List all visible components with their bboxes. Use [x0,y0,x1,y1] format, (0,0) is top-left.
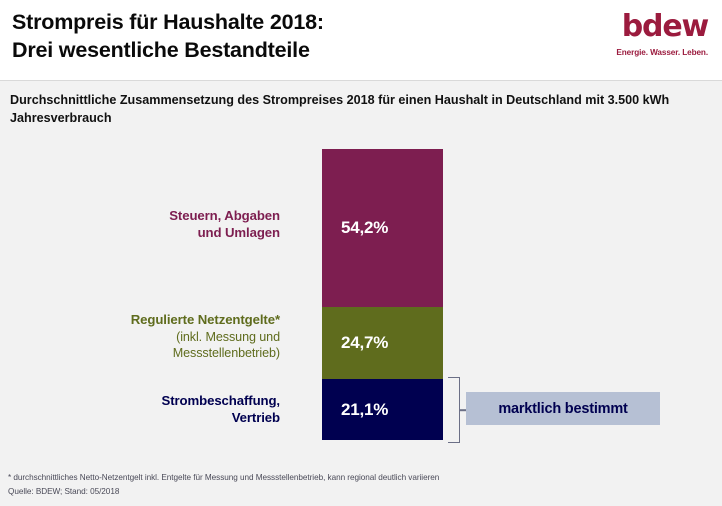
category-label-grid-fees-line3: Messstellenbetrieb) [131,345,280,361]
bar-value-taxes: 54,2% [341,218,388,238]
category-label-supply: Strombeschaffung, Vertrieb [162,393,280,427]
page-header: Strompreis für Haushalte 2018: Drei wese… [0,0,722,80]
stacked-bar: 54,2% 24,7% 21,1% [322,149,443,440]
page-title-line2: Drei wesentliche Bestandteile [12,36,602,64]
bar-segment-taxes: 54,2% [322,149,443,307]
bracket-connector [448,377,460,443]
footnote-methodology: * durchschnittliches Netto-Netzentgelt i… [8,471,708,484]
bar-segment-grid-fees: 24,7% [322,307,443,379]
category-label-grid-fees-line2: (inkl. Messung und [131,329,280,345]
footnote-source: Quelle: BDEW; Stand: 05/2018 [8,485,708,498]
bdew-logo: bdew Energie. Wasser. Leben. [600,12,708,57]
category-label-supply-line1: Strombeschaffung, [162,393,280,410]
page-title-line1: Strompreis für Haushalte 2018: [12,10,324,34]
bar-segment-supply: 21,1% [322,379,443,440]
bdew-tagline: Energie. Wasser. Leben. [600,49,708,57]
chart-subtitle: Durchschnittliche Zusammensetzung des St… [10,92,700,128]
bar-value-supply: 21,1% [341,400,388,420]
category-label-supply-line2: Vertrieb [162,410,280,427]
header-divider [0,80,722,81]
bdew-wordmark: bdew [600,12,708,42]
stacked-bar-chart: Steuern, Abgaben und Umlagen Regulierte … [0,140,722,460]
category-label-taxes-line1: Steuern, Abgaben [169,208,280,225]
category-label-taxes: Steuern, Abgaben und Umlagen [169,208,280,242]
category-label-grid-fees-line1: Regulierte Netzentgelte* [131,312,280,329]
footnotes: * durchschnittliches Netto-Netzentgelt i… [8,471,708,498]
callout-text: marktlich bestimmt [498,401,627,417]
category-label-taxes-line2: und Umlagen [169,225,280,242]
category-label-grid-fees: Regulierte Netzentgelte* (inkl. Messung … [131,312,280,361]
page-title: Strompreis für Haushalte 2018: Drei wese… [12,8,602,65]
bar-value-grid-fees: 24,7% [341,333,388,353]
callout-market-determined: marktlich bestimmt [466,392,660,425]
